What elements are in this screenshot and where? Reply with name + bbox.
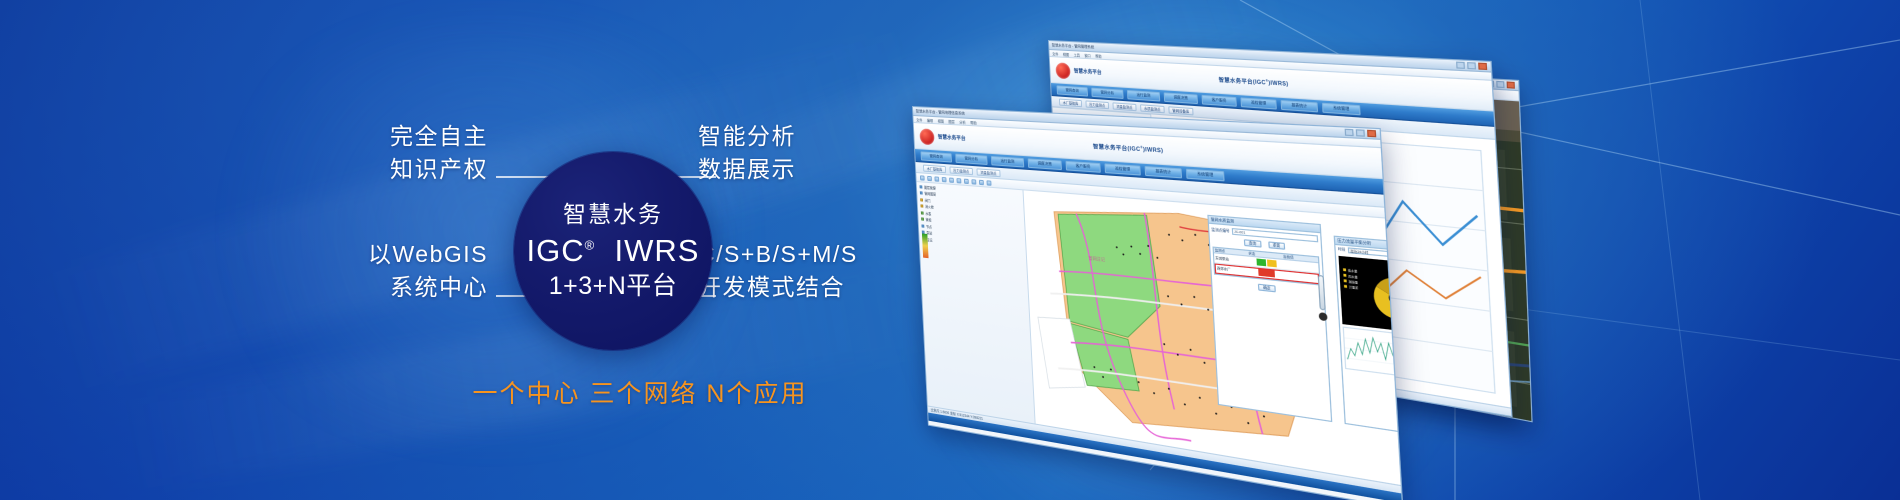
- sub-button-0[interactable]: 水厂基础库: [923, 164, 946, 173]
- menu-item-0[interactable]: 文件: [916, 117, 922, 122]
- hub-product-name: IGC® IWRS: [527, 233, 700, 269]
- back-brand-title-tail: )IWRS): [1268, 80, 1288, 88]
- back-window-title: 智慧水务平台 - 管网管理系统: [1052, 43, 1095, 50]
- sub-button-1[interactable]: 压力监测点: [1085, 100, 1109, 109]
- menu-item-5[interactable]: 帮助: [970, 119, 977, 124]
- feature-bottom-left-line1: 以WebGIS: [300, 238, 488, 271]
- layer-swatch-icon: [921, 224, 924, 227]
- nav-button-6[interactable]: 报表统计: [1281, 99, 1319, 111]
- feature-bottom-left-line2: 系统中心: [300, 271, 488, 304]
- sub-button-2[interactable]: 流量监测点: [976, 168, 1000, 177]
- folder-icon: [920, 191, 923, 194]
- sub-button-2[interactable]: 流量监测点: [1112, 102, 1136, 111]
- dialog-query-button[interactable]: 查询: [1244, 239, 1261, 247]
- menu-item-1[interactable]: 编辑: [927, 117, 933, 122]
- menu-item-3[interactable]: 窗口: [1084, 52, 1091, 57]
- measure-icon[interactable]: [979, 179, 984, 185]
- window-controls[interactable]: [1456, 62, 1487, 71]
- layer-tree-label: 阀门: [925, 197, 931, 203]
- feature-bottom-left: 以WebGIS 系统中心: [300, 238, 488, 303]
- nav-button-4[interactable]: 客户服务: [1201, 94, 1236, 106]
- menu-item-2[interactable]: 视图: [937, 118, 943, 123]
- maximize-icon[interactable]: [1467, 62, 1476, 69]
- gis-window-body[interactable]: 图层管理 管网图层 阀门 消火栓 水表 管段 节点 泵站 注记: [917, 182, 1401, 485]
- sub-button-1[interactable]: 压力监测点: [949, 166, 973, 175]
- nav-button-1[interactable]: 管网分析: [955, 153, 987, 164]
- window-controls[interactable]: [1345, 129, 1377, 138]
- layer-tree-label: 图层管理: [924, 184, 936, 190]
- platform-diagram: 完全自主 知识产权 智能分析 数据展示 以WebGIS 系统中心 C/S+B/S…: [300, 120, 980, 420]
- svg-text:计量差: 计量差: [1349, 284, 1359, 290]
- nav-button-1[interactable]: 管网分析: [1091, 87, 1123, 98]
- layer-tree-label: 消火栓: [925, 204, 934, 210]
- gis-window-wrapper: 智慧水务平台 - 管网地理信息系统 文件 编辑 视图 图层 分析 帮助: [912, 106, 1403, 500]
- gis-window-title: 智慧水务平台 - 管网地理信息系统: [916, 109, 965, 116]
- banner-root: 完全自主 知识产权 智能分析 数据展示 以WebGIS 系统中心 C/S+B/S…: [0, 0, 1900, 500]
- close-icon[interactable]: [1478, 63, 1487, 70]
- water-quality-dialog[interactable]: 管网水质监测 监测点编号 JC-001 查询 重置: [1207, 215, 1332, 422]
- hub-iwrs-text: IWRS: [615, 233, 700, 268]
- nav-button-5[interactable]: 巡检管理: [1240, 97, 1276, 109]
- maximize-icon[interactable]: [1356, 129, 1365, 137]
- nav-button-2[interactable]: 运行监测: [991, 155, 1024, 167]
- sub-button-4[interactable]: 管网设备库: [1168, 106, 1193, 115]
- maximize-icon[interactable]: [1496, 81, 1504, 88]
- registered-mark-icon: ®: [585, 238, 596, 253]
- mini-line-chart-svg: [1344, 327, 1401, 380]
- table-cell-name: 东城泵站: [1214, 255, 1249, 263]
- tagline: 一个中心 三个网络 N个应用: [360, 374, 920, 410]
- menu-item-4[interactable]: 帮助: [1095, 53, 1102, 58]
- select-icon[interactable]: [986, 180, 991, 186]
- minimize-icon[interactable]: [1345, 129, 1354, 136]
- menu-item-4[interactable]: 分析: [959, 119, 966, 124]
- hub-platform-label: 1+3+N平台: [549, 271, 678, 301]
- sub-button-0[interactable]: 水厂基础库: [1059, 98, 1082, 107]
- nav-button-7[interactable]: 系统管理: [1186, 168, 1225, 181]
- gis-layer-tree[interactable]: 图层管理 管网图层 阀门 消火栓 水表 管段 节点 泵站 注记: [917, 182, 1036, 424]
- nav-button-2[interactable]: 运行监测: [1127, 89, 1160, 101]
- layer-tree-label: 水表: [925, 210, 931, 216]
- new-file-icon[interactable]: [920, 175, 925, 180]
- svg-text:供水量: 供水量: [1348, 267, 1358, 273]
- hub-title: 智慧水务: [563, 201, 663, 229]
- nav-button-7[interactable]: 系统管理: [1322, 102, 1361, 115]
- dialog-reset-button[interactable]: 重置: [1268, 241, 1285, 249]
- platform-hub-circle: 智慧水务 IGC® IWRS 1+3+N平台: [514, 152, 712, 350]
- nav-button-3[interactable]: 调度决策: [1164, 92, 1198, 104]
- dialog-confirm-button[interactable]: 确定: [1258, 284, 1275, 293]
- app-window-stack: 智慧水务平台 - 影像地图 影像地图 矢量地图: [930, 40, 1610, 460]
- print-icon[interactable]: [942, 176, 947, 181]
- menu-item-1[interactable]: 视图: [1063, 51, 1069, 56]
- gis-brand-title-tail: )IWRS): [1143, 147, 1164, 155]
- feature-top-left-line2: 知识产权: [300, 153, 488, 186]
- menu-item-3[interactable]: 图层: [948, 118, 955, 123]
- nav-button-5[interactable]: 巡检管理: [1104, 163, 1140, 175]
- minimize-icon[interactable]: [1456, 62, 1465, 69]
- svg-text:用水量: 用水量: [1348, 273, 1358, 279]
- layer-tree-label: 节点: [926, 223, 932, 229]
- nav-button-0[interactable]: 管网查询: [921, 151, 952, 162]
- zoom-out-icon[interactable]: [956, 178, 961, 183]
- hub-igc-text: IGC: [527, 233, 585, 268]
- dialog-field-label: 监测点编号: [1211, 227, 1229, 234]
- layer-tree-label: 管网图层: [924, 191, 936, 197]
- gis-brand-title-main: 智慧水务平台(IGC: [1093, 144, 1141, 153]
- pan-compass-icon[interactable]: [1318, 312, 1327, 321]
- layer-swatch-icon: [921, 217, 924, 220]
- mini-line-chart[interactable]: [1342, 326, 1400, 382]
- folder-icon: [920, 185, 923, 188]
- back-brand-title-main: 智慧水务平台(IGC: [1219, 77, 1266, 86]
- nav-button-6[interactable]: 报表统计: [1145, 165, 1183, 177]
- feature-top-left-line1: 完全自主: [300, 120, 488, 153]
- menu-item-0[interactable]: 文件: [1052, 51, 1058, 56]
- pan-icon[interactable]: [964, 178, 969, 183]
- layer-swatch-icon: [921, 211, 924, 214]
- close-icon[interactable]: [1507, 81, 1515, 88]
- gis-window[interactable]: 智慧水务平台 - 管网地理信息系统 文件 编辑 视图 图层 分析 帮助: [912, 106, 1403, 500]
- zoom-in-icon[interactable]: [949, 177, 954, 182]
- menu-item-2[interactable]: 工具: [1073, 52, 1079, 57]
- feature-top-left: 完全自主 知识产权: [300, 120, 488, 185]
- svg-text:漏损量: 漏损量: [1348, 279, 1358, 285]
- identify-icon[interactable]: [971, 179, 976, 184]
- table-cell-name: 西郊水厂: [1216, 266, 1250, 274]
- open-folder-icon[interactable]: [927, 175, 932, 180]
- analysis-period-label: 时段: [1338, 247, 1346, 252]
- nav-button-4[interactable]: 客户服务: [1065, 160, 1100, 172]
- zoom-slider[interactable]: [1317, 275, 1325, 311]
- nav-button-0[interactable]: 管网查询: [1057, 85, 1088, 96]
- layer-tree-label: 管段: [926, 217, 932, 223]
- layer-swatch-icon: [920, 198, 923, 201]
- layer-swatch-icon: [920, 204, 923, 207]
- sub-button-3[interactable]: 水质监测点: [1140, 104, 1165, 113]
- close-icon[interactable]: [1367, 130, 1376, 138]
- save-icon[interactable]: [934, 176, 939, 181]
- nav-button-3[interactable]: 调度决策: [1028, 158, 1062, 170]
